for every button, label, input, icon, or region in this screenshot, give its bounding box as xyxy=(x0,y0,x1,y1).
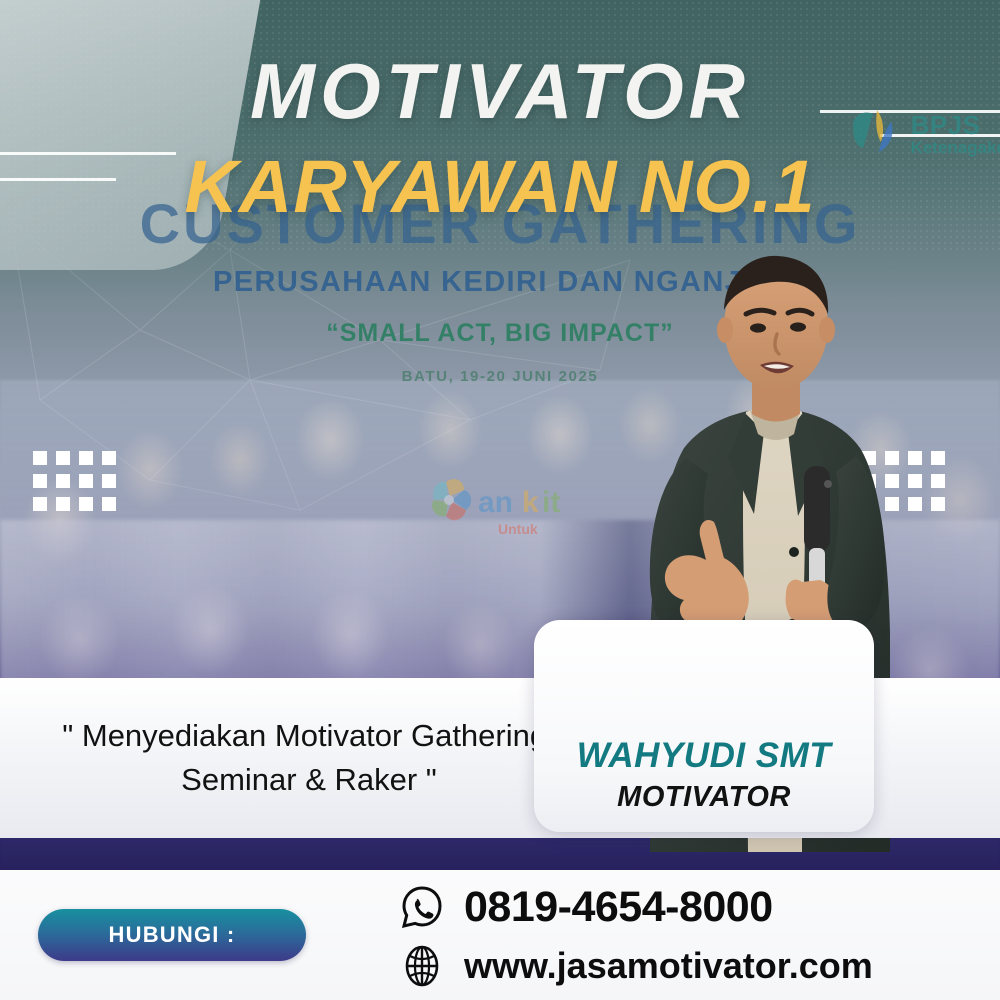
headline-line-1: MOTIVATOR xyxy=(0,52,1000,130)
headline: MOTIVATOR KARYAWAN NO.1 xyxy=(0,52,1000,224)
contact-list: 0819-4654-8000 www.jasamotivator.com xyxy=(400,883,873,988)
svg-text:k: k xyxy=(522,486,539,519)
phone-number: 0819-4654-8000 xyxy=(464,883,773,932)
svg-text:it: it xyxy=(542,486,560,519)
whatsapp-icon xyxy=(400,885,444,929)
svg-text:an: an xyxy=(478,486,513,519)
headline-line-2: KARYAWAN NO.1 xyxy=(0,150,1000,224)
contact-row-phone[interactable]: 0819-4654-8000 xyxy=(400,883,873,932)
promo-poster: CUSTOMER GATHERING PERUSAHAAN KEDIRI DAN… xyxy=(0,0,1000,1000)
contact-row-website[interactable]: www.jasamotivator.com xyxy=(400,944,873,988)
globe-icon xyxy=(400,944,444,988)
hubungi-button[interactable]: HUBUNGI : xyxy=(38,909,306,961)
speaker-role: MOTIVATOR xyxy=(534,781,874,814)
quote-text: " Menyediakan Motivator Gathering, Semin… xyxy=(0,714,580,802)
brand-watermark-icon: an k it Untuk xyxy=(412,468,602,546)
speaker-name: WAHYUDI SMT xyxy=(534,737,874,776)
contact-footer: HUBUNGI : 0819-4654-8000 www.jas xyxy=(0,870,1000,1000)
dot-grid-icon-left xyxy=(33,451,116,511)
watermark-tagline: Untuk xyxy=(498,521,538,537)
speaker-name-card: WAHYUDI SMT MOTIVATOR xyxy=(534,620,874,832)
website-url: www.jasamotivator.com xyxy=(464,945,873,987)
